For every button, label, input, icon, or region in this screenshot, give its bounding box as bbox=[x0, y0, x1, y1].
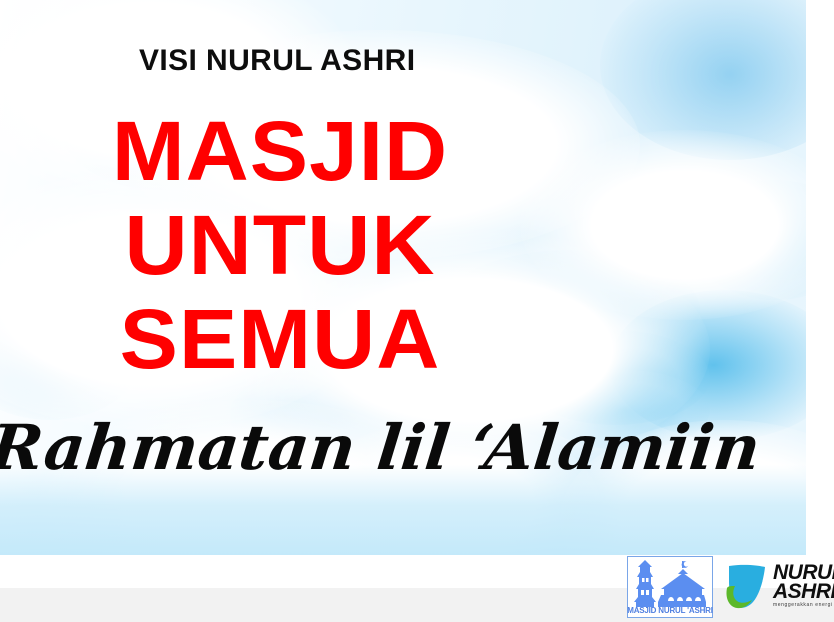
masjid-logo-caption: MASJID NURUL 'ASHRI bbox=[627, 606, 713, 615]
brand-tagline: menggerakkan energi kebaikan bbox=[773, 603, 834, 608]
masjid-nurul-ashri-logo: MASJID NURUL 'ASHRI bbox=[627, 556, 713, 618]
right-white-margin bbox=[806, 0, 834, 555]
nurul-ashri-wordmark: NURUL ASHRI menggerakkan energi kebaikan bbox=[773, 562, 834, 608]
vision-statement: MASJID UNTUK SEMUA bbox=[0, 104, 560, 386]
brand-word-line-2: ASHRI bbox=[773, 581, 834, 602]
leaf-swoosh-icon bbox=[723, 560, 769, 610]
nurul-ashri-brand-logo: NURUL ASHRI menggerakkan energi kebaikan bbox=[723, 560, 834, 610]
vision-tagline: Rahmatan lil ʻAlamiin bbox=[0, 412, 565, 484]
vision-line-2: UNTUK bbox=[0, 198, 571, 292]
sky-blue-patch bbox=[690, 180, 806, 300]
sky-blue-patch bbox=[600, 0, 806, 160]
slide-heading: VISI NURUL ASHRI bbox=[139, 44, 415, 78]
vision-line-1: MASJID bbox=[0, 104, 571, 198]
vision-line-3: SEMUA bbox=[0, 292, 571, 386]
footer-logos: MASJID NURUL 'ASHRI NURUL ASHRI menggera… bbox=[627, 556, 834, 618]
mosque-silhouette-icon bbox=[628, 557, 712, 607]
presentation-slide: VISI NURUL ASHRI MASJID UNTUK SEMUA Rahm… bbox=[0, 0, 834, 622]
